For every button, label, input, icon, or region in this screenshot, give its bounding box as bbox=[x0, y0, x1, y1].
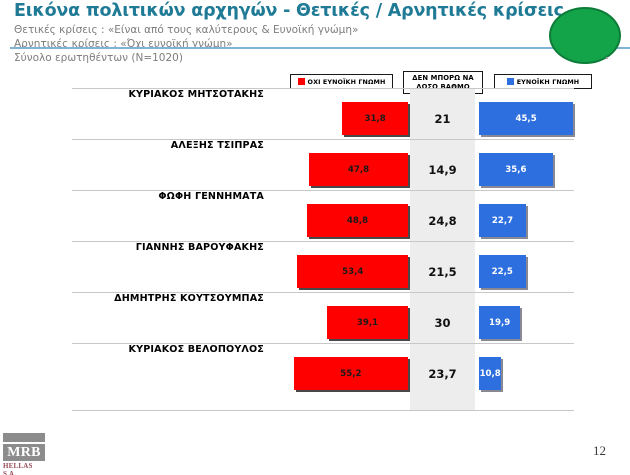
value-neutral: 21 bbox=[410, 102, 475, 135]
logo-top-bar-icon bbox=[3, 433, 45, 442]
logo-subtext: HELLAS S.A. bbox=[3, 462, 45, 475]
row-label: ΦΩΦΗ ΓΕΝΝΗΜΑΤΑ bbox=[70, 191, 264, 202]
row-label: ΑΛΕΞΗΣ ΤΣΙΠΡΑΣ bbox=[70, 140, 264, 151]
row-label: ΓΙΑΝΝΗΣ ΒΑΡΟΥΦΑΚΗΣ bbox=[70, 242, 264, 253]
plot-bottom-divider bbox=[72, 410, 574, 411]
legend-swatch-blue-icon bbox=[507, 78, 514, 85]
page-title: Εικόνα πολιτικών αρχηγών - Θετικές / Αρν… bbox=[14, 1, 564, 21]
header-divider bbox=[10, 47, 630, 49]
bar-negative: 31,8 bbox=[342, 102, 408, 135]
chart-row: ΔΗΜΗΤΡΗΣ ΚΟΥΤΣΟΥΜΠΑΣ39,13019,9 bbox=[0, 292, 630, 343]
bar-positive: 22,5 bbox=[479, 255, 526, 288]
subtitle-positive-definition: Θετικές κρίσεις : «Είναι από τους καλύτε… bbox=[14, 24, 358, 36]
value-neutral: 30 bbox=[410, 306, 475, 339]
value-neutral: 24,8 bbox=[410, 204, 475, 237]
chart-plot-area: ΚΥΡΙΑΚΟΣ ΜΗΤΣΟΤΑΚΗΣ31,82145,5ΑΛΕΞΗΣ ΤΣΙΠ… bbox=[0, 88, 630, 410]
row-label: ΚΥΡΙΑΚΟΣ ΜΗΤΣΟΤΑΚΗΣ bbox=[70, 89, 264, 100]
bar-positive: 22,7 bbox=[479, 204, 526, 237]
value-neutral: 21,5 bbox=[410, 255, 475, 288]
green-circle-icon bbox=[549, 7, 621, 64]
value-neutral: 23,7 bbox=[410, 357, 475, 390]
bar-positive: 35,6 bbox=[479, 153, 553, 186]
slide-canvas: Εικόνα πολιτικών αρχηγών - Θετικές / Αρν… bbox=[0, 0, 630, 475]
bar-negative: 48,8 bbox=[307, 204, 408, 237]
bar-negative: 47,8 bbox=[309, 153, 408, 186]
bar-negative: 53,4 bbox=[297, 255, 408, 288]
bar-positive: 10,8 bbox=[479, 357, 501, 390]
chart-row: ΚΥΡΙΑΚΟΣ ΒΕΛΟΠΟΥΛΟΣ55,223,710,8 bbox=[0, 343, 630, 394]
chart-row: ΦΩΦΗ ΓΕΝΝΗΜΑΤΑ48,824,822,7 bbox=[0, 190, 630, 241]
subtitle-sample-size: Σύνολο ερωτηθέντων (Ν=1020) bbox=[14, 52, 183, 64]
row-label: ΚΥΡΙΑΚΟΣ ΒΕΛΟΠΟΥΛΟΣ bbox=[70, 344, 264, 355]
legend-item-positive: ΕΥΝΟΪΚΗ ΓΝΩΜΗ bbox=[494, 74, 592, 89]
value-neutral: 14,9 bbox=[410, 153, 475, 186]
bar-positive: 45,5 bbox=[479, 102, 573, 135]
legend-swatch-red-icon bbox=[298, 78, 305, 85]
logo-text: MRB bbox=[3, 444, 45, 461]
chart-row: ΚΥΡΙΑΚΟΣ ΜΗΤΣΟΤΑΚΗΣ31,82145,5 bbox=[0, 88, 630, 139]
bar-negative: 39,1 bbox=[327, 306, 408, 339]
legend-label-negative: ΟΧΙ ΕΥΝΟΪΚΗ ΓΝΩΜΗ bbox=[308, 78, 386, 86]
chart-row: ΑΛΕΞΗΣ ΤΣΙΠΡΑΣ47,814,935,6 bbox=[0, 139, 630, 190]
decorative-dot-icon bbox=[606, 57, 608, 59]
legend-label-neutral-line1: ΔΕΝ ΜΠΟΡΩ ΝΑ bbox=[412, 74, 473, 82]
row-label: ΔΗΜΗΤΡΗΣ ΚΟΥΤΣΟΥΜΠΑΣ bbox=[70, 293, 264, 304]
chart-row: ΓΙΑΝΝΗΣ ΒΑΡΟΥΦΑΚΗΣ53,421,522,5 bbox=[0, 241, 630, 292]
legend-label-positive: ΕΥΝΟΪΚΗ ΓΝΩΜΗ bbox=[517, 78, 580, 86]
page-number: 12 bbox=[593, 443, 606, 459]
bar-negative: 55,2 bbox=[294, 357, 408, 390]
bar-positive: 19,9 bbox=[479, 306, 520, 339]
legend-item-negative: ΟΧΙ ΕΥΝΟΪΚΗ ΓΝΩΜΗ bbox=[290, 74, 393, 89]
mrb-logo: MRB HELLAS S.A. bbox=[3, 433, 45, 475]
